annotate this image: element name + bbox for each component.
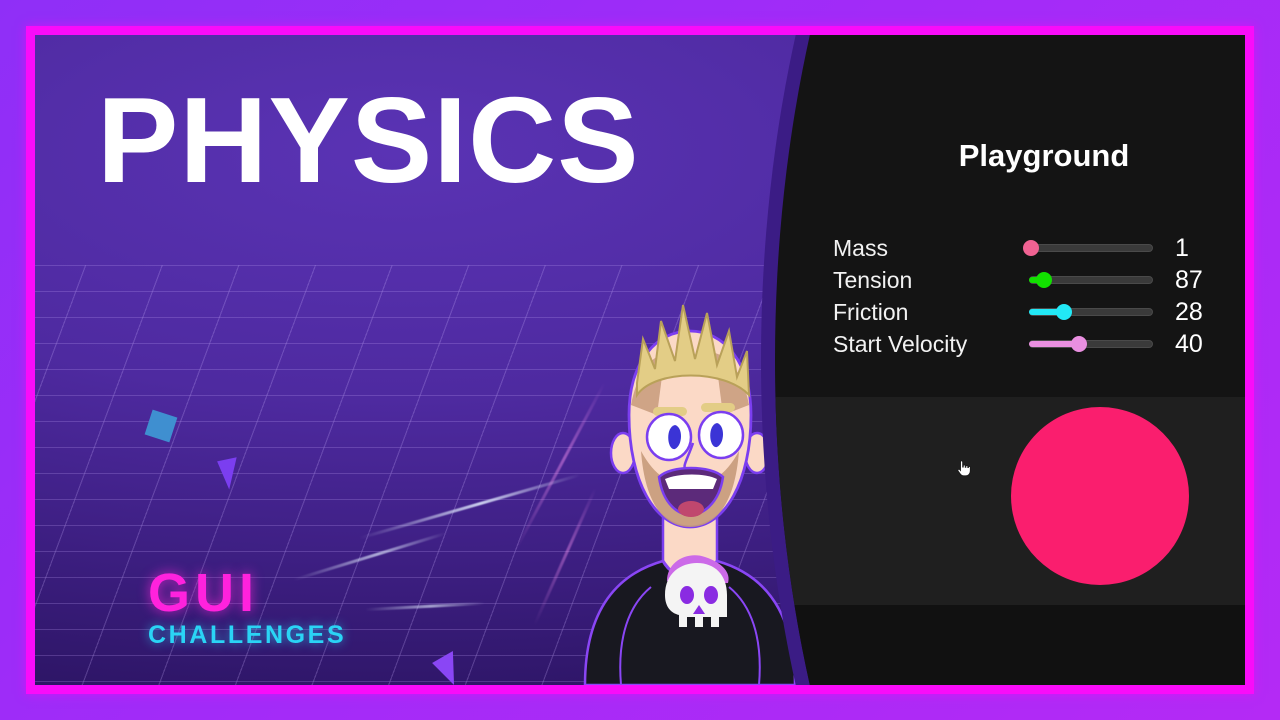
video-frame: PHYSICS GUI CHALLENGES [0, 0, 1280, 720]
neon-frame-border [26, 26, 1254, 694]
